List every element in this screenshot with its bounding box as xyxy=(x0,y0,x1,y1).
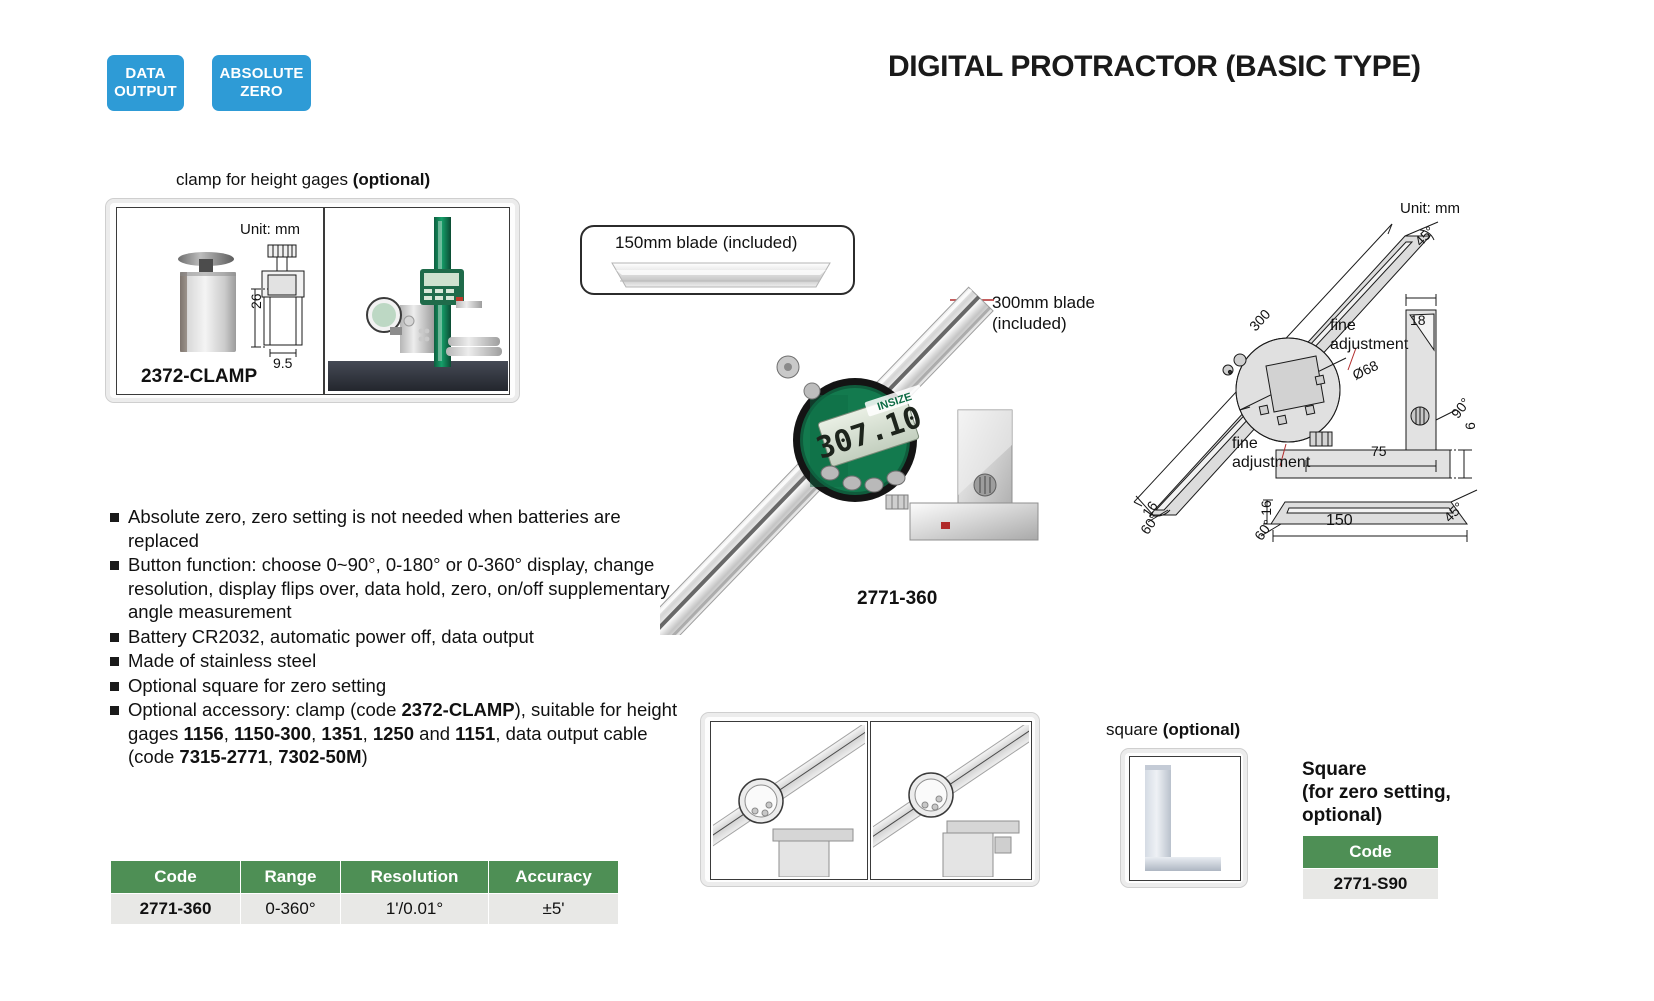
square-title-line3: optional) xyxy=(1302,804,1451,827)
square-panel-caption: square (optional) xyxy=(1106,720,1240,740)
badge-absolute-zero: ABSOLUTE ZERO xyxy=(212,55,311,111)
table-row: 2771-360 0-360° 1'/0.01° ±5' xyxy=(111,894,619,925)
cell-accuracy: ±5' xyxy=(489,894,619,925)
badge-line-1: DATA xyxy=(125,65,165,83)
drawing-dim-75: 75 xyxy=(1371,443,1387,459)
application-photo-panel xyxy=(700,712,1040,887)
badge-data-output: DATA OUTPUT xyxy=(107,55,184,111)
clamp-unit-label: Unit: mm xyxy=(240,221,300,238)
list-item: Made of stainless steel xyxy=(110,649,680,673)
fine-adjustment-label-bottom: fine adjustment xyxy=(1232,434,1310,472)
feature-text-4: Optional square for zero setting xyxy=(128,674,386,698)
col-header-code: Code xyxy=(1303,836,1439,869)
bullet-square-icon xyxy=(110,561,119,570)
list-item: Optional square for zero setting xyxy=(110,674,680,698)
page-title: DIGITAL PROTRACTOR (BASIC TYPE) xyxy=(888,50,1421,84)
clamp-caption-optional: (optional) xyxy=(353,170,430,189)
list-item: Absolute zero, zero setting is not neede… xyxy=(110,505,680,552)
fine-adjustment-bottom-line2: adjustment xyxy=(1232,453,1310,472)
badge-line-2: ZERO xyxy=(240,83,282,101)
application-illustration-right xyxy=(873,725,1029,877)
cell-code: 2771-360 xyxy=(111,894,241,925)
fine-adjustment-top-line1: fine xyxy=(1330,316,1408,335)
clamp-photo-panel: Unit: mm xyxy=(105,198,520,403)
col-header-range: Range xyxy=(241,861,341,894)
feature-text-1: Button function: choose 0~90°, 0-180° or… xyxy=(128,553,680,624)
clamp-product-code: 2372-CLAMP xyxy=(141,366,257,388)
bullet-square-icon xyxy=(110,657,119,666)
square-caption-text: square xyxy=(1106,720,1163,739)
square-spec-table: Code 2771-S90 xyxy=(1302,835,1439,900)
application-illustration-left xyxy=(713,725,865,877)
clamp-dim-width: 9.5 xyxy=(273,355,292,371)
cell-resolution: 1'/0.01° xyxy=(341,894,489,925)
blade-150-length: 150 xyxy=(1326,512,1353,530)
height-gage-application-photo xyxy=(328,209,508,393)
blade-150-dim-16: 16 xyxy=(1258,500,1274,516)
bullet-square-icon xyxy=(110,682,119,691)
clamp-dim-height: 26 xyxy=(248,293,264,309)
col-header-accuracy: Accuracy xyxy=(489,861,619,894)
list-item: Button function: choose 0~90°, 0-180° or… xyxy=(110,553,680,624)
table-row: 2771-S90 xyxy=(1303,869,1439,900)
protractor-product-code: 2771-360 xyxy=(857,588,937,610)
feature-text-5: Optional accessory: clamp (code 2372-CLA… xyxy=(128,698,680,769)
square-caption-optional: (optional) xyxy=(1163,720,1240,739)
cell-code: 2771-S90 xyxy=(1303,869,1439,900)
square-product-photo xyxy=(1135,761,1235,877)
square-title-line2: (for zero setting, xyxy=(1302,781,1451,804)
badge-line-2: OUTPUT xyxy=(114,83,177,101)
table-header-row: Code xyxy=(1303,836,1439,869)
fine-adjustment-label-top: fine adjustment xyxy=(1330,316,1408,354)
square-title-line1: Square xyxy=(1302,758,1451,781)
main-spec-table-wrap: Code Range Resolution Accuracy 2771-360 … xyxy=(110,860,619,925)
clamp-panel-caption: clamp for height gages (optional) xyxy=(176,170,430,190)
main-spec-table: Code Range Resolution Accuracy 2771-360 … xyxy=(110,860,619,925)
protractor-product-photo: 307.10 INSIZE xyxy=(660,195,1130,635)
list-item: Battery CR2032, automatic power off, dat… xyxy=(110,625,680,649)
table-header-row: Code Range Resolution Accuracy xyxy=(111,861,619,894)
square-photo-panel xyxy=(1120,748,1248,888)
feature-text-2: Battery CR2032, automatic power off, dat… xyxy=(128,625,534,649)
feature-text-3: Made of stainless steel xyxy=(128,649,316,673)
bullet-square-icon xyxy=(110,633,119,642)
col-header-resolution: Resolution xyxy=(341,861,489,894)
col-header-code: Code xyxy=(111,861,241,894)
drawing-dim-18: 18 xyxy=(1410,312,1426,328)
bullet-square-icon xyxy=(110,513,119,522)
fine-adjustment-bottom-line1: fine xyxy=(1232,434,1310,453)
bullet-square-icon xyxy=(110,706,119,715)
cell-range: 0-360° xyxy=(241,894,341,925)
feature-text-0: Absolute zero, zero setting is not neede… xyxy=(128,505,680,552)
square-spec-table-wrap: Code 2771-S90 xyxy=(1302,835,1439,900)
feature-list: Absolute zero, zero setting is not neede… xyxy=(110,505,680,770)
square-title: Square (for zero setting, optional) xyxy=(1302,758,1451,827)
fine-adjustment-top-line2: adjustment xyxy=(1330,335,1408,354)
clamp-caption-text: clamp for height gages xyxy=(176,170,353,189)
list-item: Optional accessory: clamp (code 2372-CLA… xyxy=(110,698,680,769)
drawing-dim-6-right: 6 xyxy=(1462,422,1478,430)
badge-line-1: ABSOLUTE xyxy=(219,65,303,83)
